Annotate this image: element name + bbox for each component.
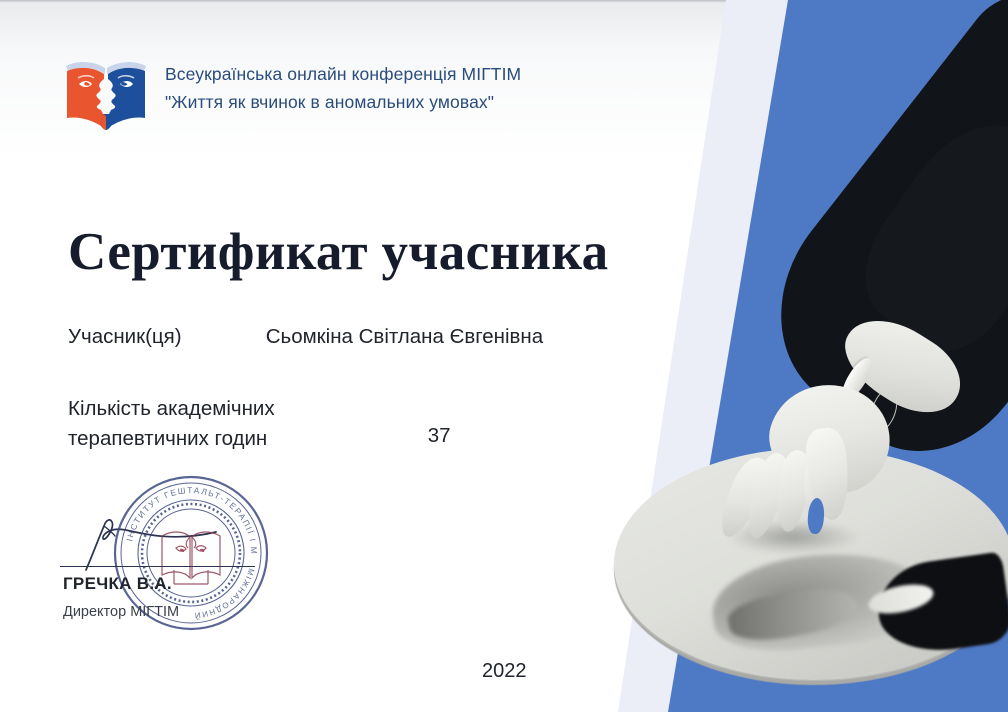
conference-header: Всеукраїнська онлайн конференція МІГТІМ … bbox=[165, 60, 521, 116]
signature-line bbox=[60, 566, 255, 567]
signature-block: ІНСТИТУТ ГЕШТАЛЬТ-ТЕРАПІЇ І МИСТЕЦТВ МІЖ… bbox=[60, 470, 340, 650]
page-title: Сертификат учасника bbox=[68, 222, 608, 282]
participant-name: Сьомкіна Світлана Євгенівна bbox=[266, 325, 543, 349]
open-book-two-faces-logo bbox=[62, 52, 150, 130]
signatory-name: ГРЕЧКА В.А. bbox=[63, 574, 172, 594]
hours-value: 37 bbox=[364, 394, 451, 448]
conference-name-line-1: Всеукраїнська онлайн конференція МІГТІМ bbox=[165, 60, 521, 88]
participant-label: Учасник(ця) bbox=[68, 325, 260, 349]
hours-label: Кількість академічних терапевтичних годи… bbox=[68, 394, 358, 454]
participant-row: Учасник(ця) Сьомкіна Світлана Євгенівна bbox=[68, 325, 543, 349]
issue-year: 2022 bbox=[482, 660, 527, 683]
certificate-content: Всеукраїнська онлайн конференція МІГТІМ … bbox=[0, 0, 1008, 712]
hours-row: Кількість академічних терапевтичних годи… bbox=[68, 394, 451, 454]
conference-name-line-2: "Життя як вчинок в аномальних умовах" bbox=[165, 88, 521, 116]
svg-text:ІНСТИТУТ ГЕШТАЛЬТ-ТЕРАПІЇ І МИ: ІНСТИТУТ ГЕШТАЛЬТ-ТЕРАПІЇ І МИСТЕЦТВ bbox=[112, 474, 259, 555]
certificate-page: Всеукраїнська онлайн конференція МІГТІМ … bbox=[0, 0, 1008, 712]
signatory-role: Директор МІГТІМ bbox=[63, 604, 179, 620]
